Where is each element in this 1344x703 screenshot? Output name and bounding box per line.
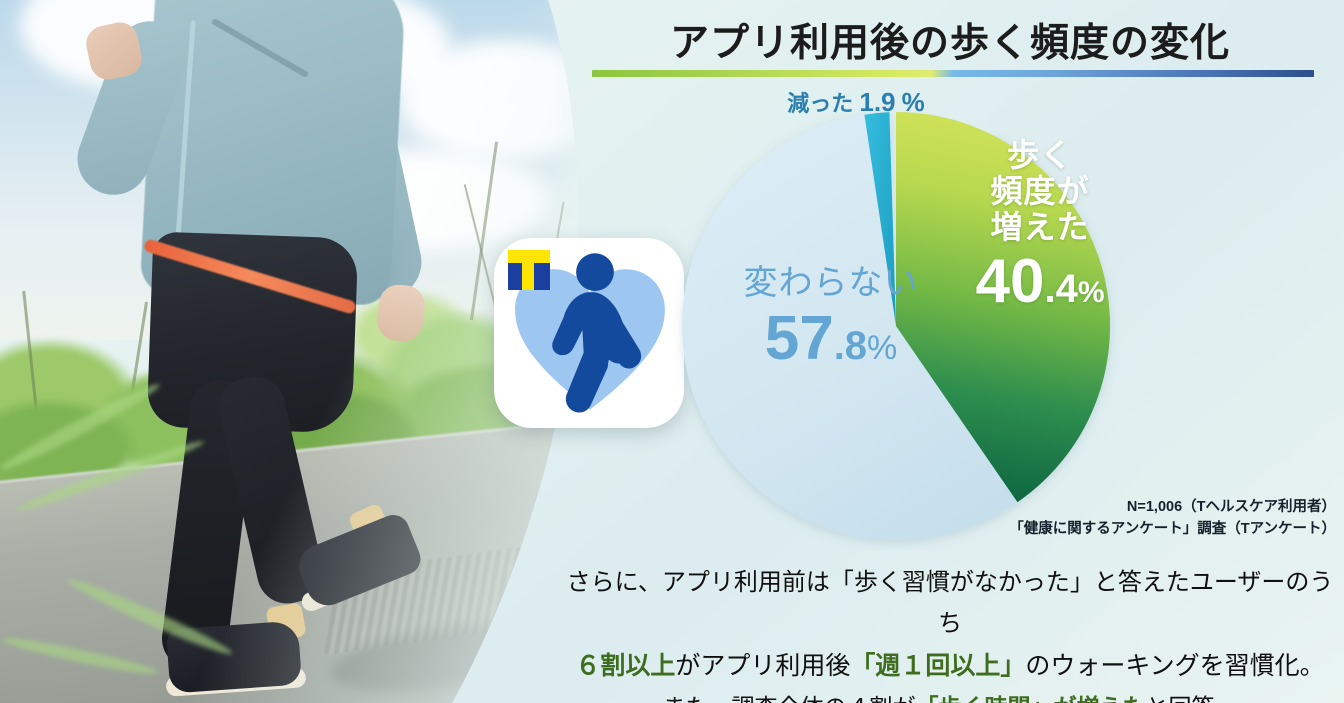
title-underline-rule bbox=[592, 70, 1314, 77]
pie-label-same: 変わらない 57.8% bbox=[706, 266, 956, 372]
pie-label-same-text: 変わらない bbox=[706, 266, 956, 301]
pie-label-same-value-int: 57 bbox=[765, 307, 834, 371]
content-panel: アプリ利用後の歩く頻度の変化 bbox=[556, 0, 1344, 703]
summary-line-3-end: と回答。 bbox=[1146, 694, 1238, 703]
chart-source-note-line2: 「健康に関するアンケート」調査（Tアンケート） bbox=[556, 518, 1336, 540]
summary-highlight-ratio: ６割以上 bbox=[575, 652, 675, 680]
pie-label-decrease-text: 減った bbox=[787, 91, 853, 116]
summary-line-3-start: また、調査全体の４割が bbox=[663, 694, 916, 703]
pie-label-increase-value-int: 40 bbox=[975, 247, 1044, 316]
summary-line-2-mid: がアプリ利用後 bbox=[675, 652, 850, 680]
pie-label-decrease: 減った 1.9 % bbox=[736, 86, 976, 118]
pie-label-increase-value-dec: .4 bbox=[1044, 267, 1077, 311]
pie-label-increase-line2: 頻度が bbox=[940, 174, 1140, 210]
pie-label-increase-line3: 増えた bbox=[940, 210, 1140, 246]
pie-label-decrease-value: 1.9 bbox=[859, 87, 895, 117]
chart-source-note: N=1,006（Tヘルスケア利用者） 「健康に関するアンケート」調査（Tアンケー… bbox=[556, 496, 1336, 541]
pie-chart: 減った 1.9 % 変わらない 57.8% 歩く 頻度が 増えた 40.4% bbox=[556, 86, 1344, 506]
summary-line-1: さらに、アプリ利用前は「歩く習慣がなかった」と答えたユーザーのうち bbox=[556, 562, 1344, 645]
chart-source-note-line1: N=1,006（Tヘルスケア利用者） bbox=[556, 496, 1336, 518]
page-title: アプリ利用後の歩く頻度の変化 bbox=[556, 12, 1344, 68]
infographic-root: アプリ利用後の歩く頻度の変化 bbox=[0, 0, 1344, 703]
pie-label-increase-line1: 歩く bbox=[940, 138, 1140, 174]
summary-paragraph: さらに、アプリ利用前は「歩く習慣がなかった」と答えたユーザーのうち ６割以上がア… bbox=[556, 562, 1344, 703]
pie-label-same-value-dec: .8 bbox=[834, 324, 867, 368]
pie-label-same-unit: % bbox=[867, 329, 897, 367]
summary-highlight-frequency: 「週１回以上」 bbox=[850, 652, 1025, 680]
pie-label-increase: 歩く 頻度が 増えた 40.4% bbox=[940, 138, 1140, 317]
summary-line-2-end: のウォーキングを習慣化。 bbox=[1025, 652, 1324, 680]
pie-label-decrease-unit: % bbox=[902, 87, 925, 117]
t-logo-icon bbox=[508, 250, 550, 290]
summary-line-2: ６割以上がアプリ利用後「週１回以上」のウォーキングを習慣化。 bbox=[556, 645, 1344, 688]
pie-label-increase-unit: % bbox=[1078, 276, 1105, 309]
summary-highlight-time: 「歩く時間」が増えた bbox=[916, 694, 1146, 703]
summary-line-3: また、調査全体の４割が「歩く時間」が増えたと回答。 bbox=[556, 688, 1344, 703]
